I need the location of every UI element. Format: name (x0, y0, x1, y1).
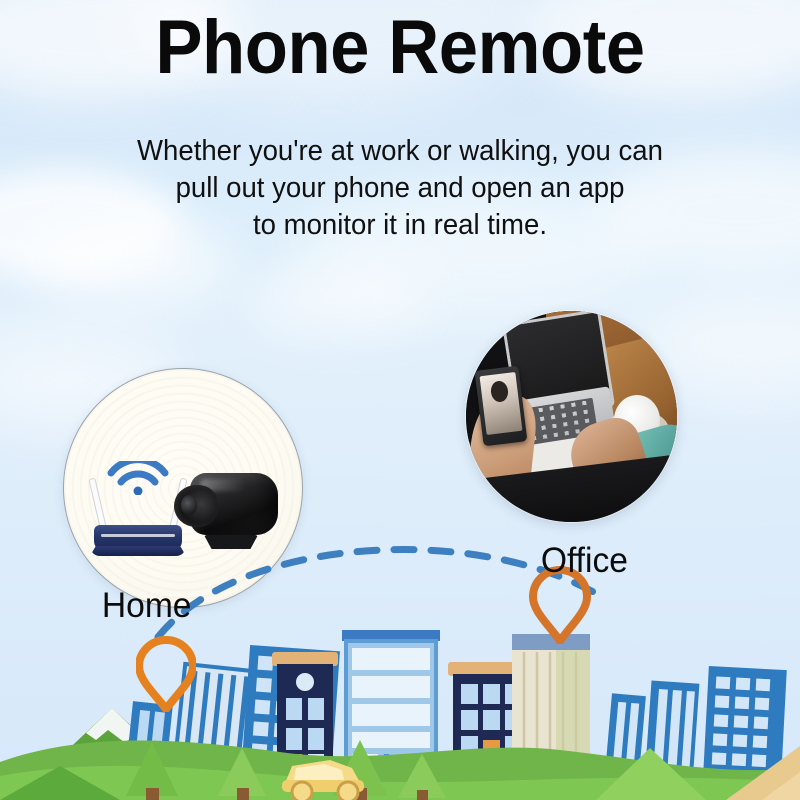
subtitle-line-2: pull out your phone and open an app (77, 170, 723, 207)
location-label-home: Home (102, 586, 192, 626)
location-label-office: Office (541, 541, 628, 581)
subtitle-line-1: Whether you're at work or walking, you c… (77, 133, 723, 170)
wifi-signal-icon (107, 461, 169, 495)
phone-and-laptop-photo (466, 311, 677, 522)
router-antenna-left (88, 478, 107, 530)
phone-remote-poster: Phone Remote Whether you're at work or w… (0, 0, 800, 800)
page-title: Phone Remote (28, 8, 772, 88)
map-pin-icon[interactable] (136, 636, 196, 712)
subtitle-line-3: to monitor it in real time. (77, 207, 723, 244)
page-subtitle: Whether you're at work or walking, you c… (77, 133, 723, 244)
